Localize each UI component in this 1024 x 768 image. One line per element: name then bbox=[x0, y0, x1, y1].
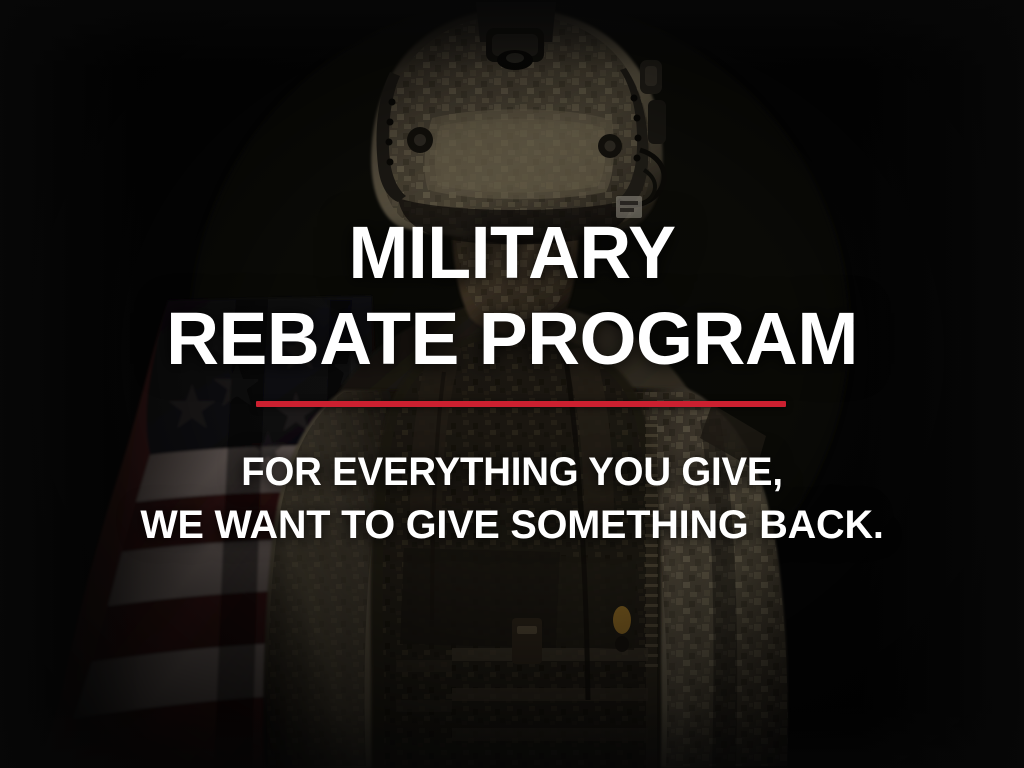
subhead-line-2: WE WANT TO GIVE SOMETHING BACK. bbox=[5, 505, 1019, 545]
red-divider-rule bbox=[256, 401, 786, 407]
headline-line-2: REBATE PROGRAM bbox=[5, 302, 1019, 376]
soldier-background-image bbox=[0, 0, 1024, 768]
subhead-line-1: FOR EVERYTHING YOU GIVE, bbox=[20, 452, 1003, 492]
headline-line-1: MILITARY bbox=[15, 216, 1008, 290]
military-rebate-poster: MILITARY REBATE PROGRAM FOR EVERYTHING Y… bbox=[0, 0, 1024, 768]
